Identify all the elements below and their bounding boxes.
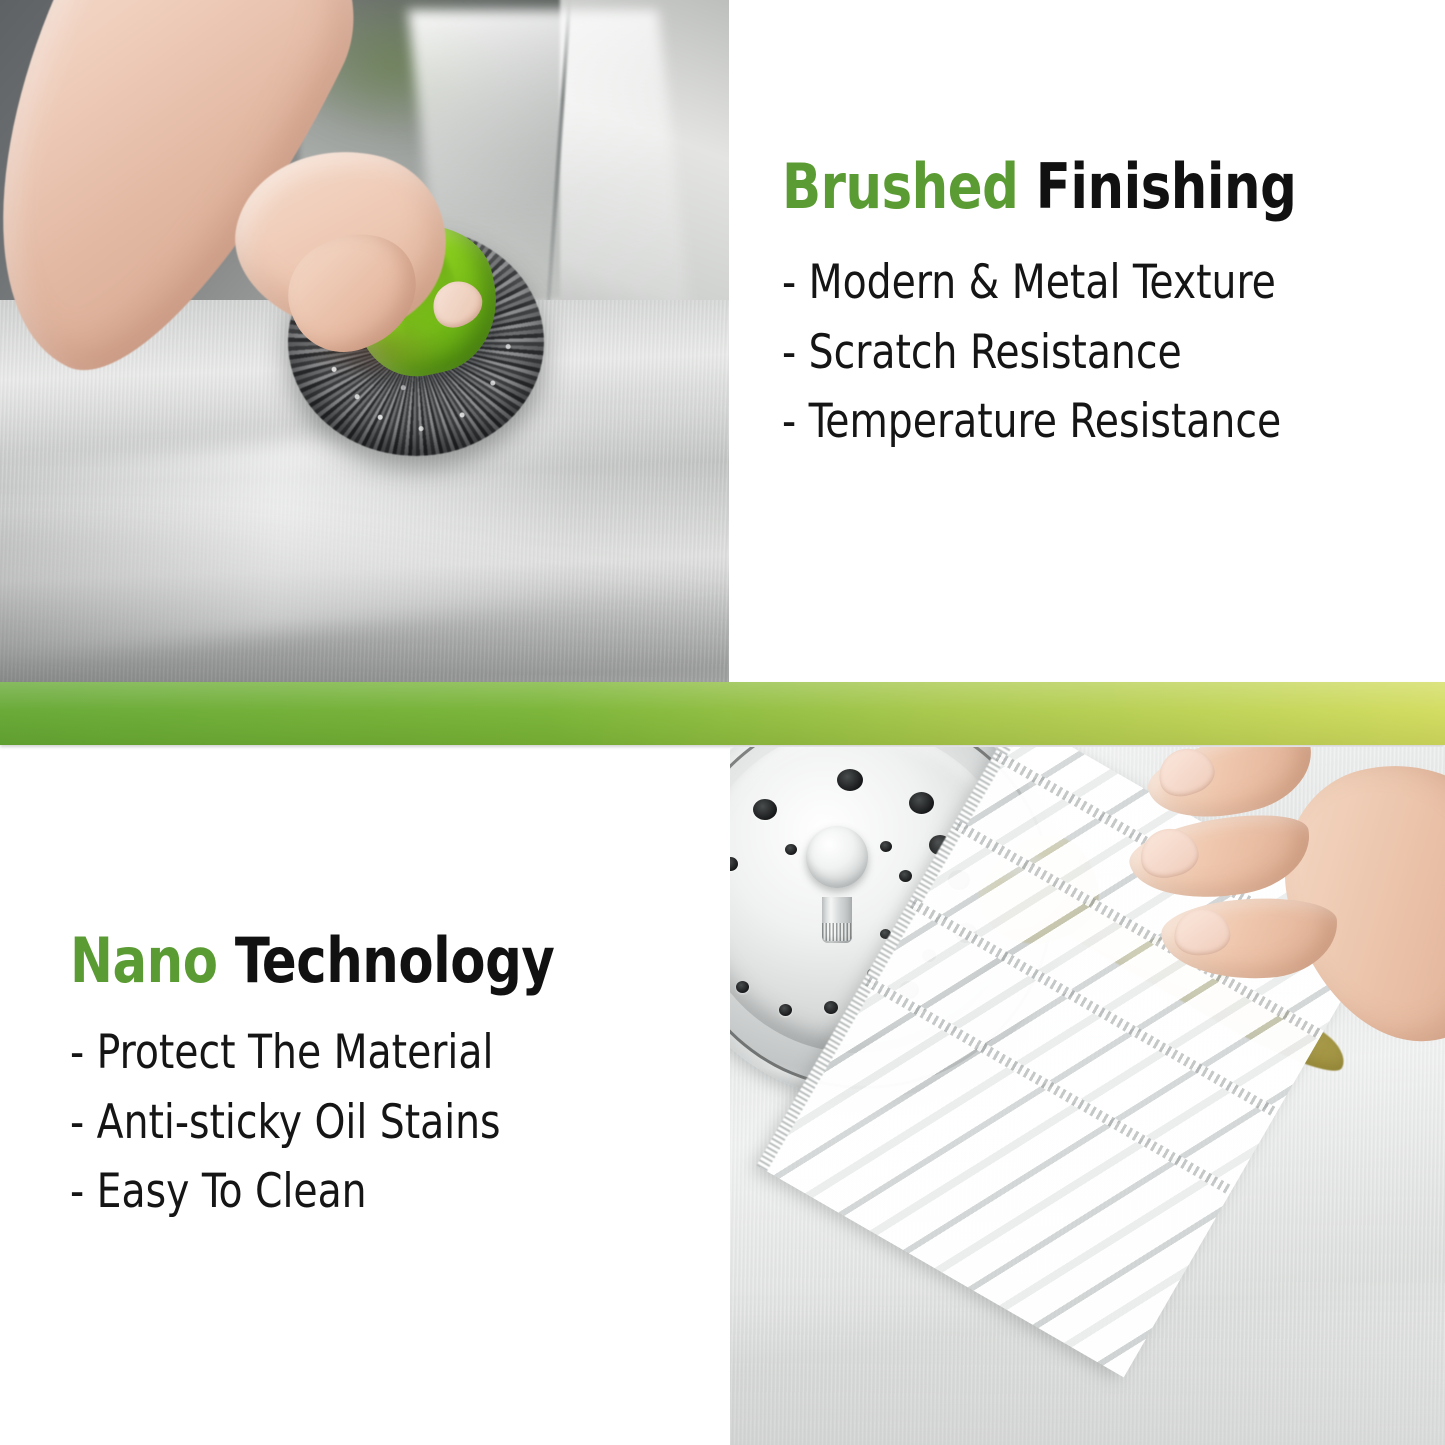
strainer-hole	[753, 799, 777, 820]
infographic-page: Brushed Finishing - Modern & Metal Textu…	[0, 0, 1445, 1445]
feature-bullet: - Protect The Material	[70, 1018, 656, 1088]
strainer-hole	[909, 792, 934, 814]
wiping-hand	[1122, 747, 1445, 1043]
strainer-hole	[899, 870, 912, 882]
feature-block-nano-technology: Nano Technology - Protect The Material -…	[70, 930, 700, 1227]
feature-bullet: - Modern & Metal Texture	[782, 248, 1368, 318]
feature-bullet: - Anti-sticky Oil Stains	[70, 1088, 656, 1158]
strainer-hole	[779, 1004, 792, 1016]
feature-bullet: - Temperature Resistance	[782, 387, 1368, 457]
drain-stem	[822, 897, 852, 943]
feature-bullet: - Scratch Resistance	[782, 318, 1368, 388]
strainer-hole	[880, 841, 892, 852]
feature-bullet: - Easy To Clean	[70, 1157, 656, 1227]
green-divider-bar	[0, 682, 1445, 745]
headline-brushed-finishing: Brushed Finishing	[782, 156, 1362, 218]
divider-sheen	[0, 682, 1445, 745]
photo-scrubbing-sink	[0, 0, 729, 682]
strainer-hole	[736, 981, 749, 993]
feature-list-nano-technology: - Protect The Material - Anti-sticky Oil…	[70, 1018, 700, 1227]
headline-main-word: Technology	[235, 924, 554, 997]
drain-knob	[806, 826, 868, 888]
photo-drain-oil-wipe	[730, 747, 1445, 1445]
strainer-hole	[824, 1001, 838, 1014]
headline-main-word: Finishing	[1036, 150, 1297, 223]
basin-shadow	[0, 520, 729, 682]
strainer-hole	[785, 844, 797, 855]
feature-block-brushed-finishing: Brushed Finishing - Modern & Metal Textu…	[782, 156, 1412, 457]
headline-accent-word: Nano	[70, 924, 218, 997]
headline-accent-word: Brushed	[782, 150, 1018, 223]
feature-list-brushed-finishing: - Modern & Metal Texture - Scratch Resis…	[782, 248, 1412, 457]
headline-nano-technology: Nano Technology	[70, 930, 650, 992]
strainer-hole	[730, 857, 738, 871]
strainer-hole	[837, 769, 863, 791]
